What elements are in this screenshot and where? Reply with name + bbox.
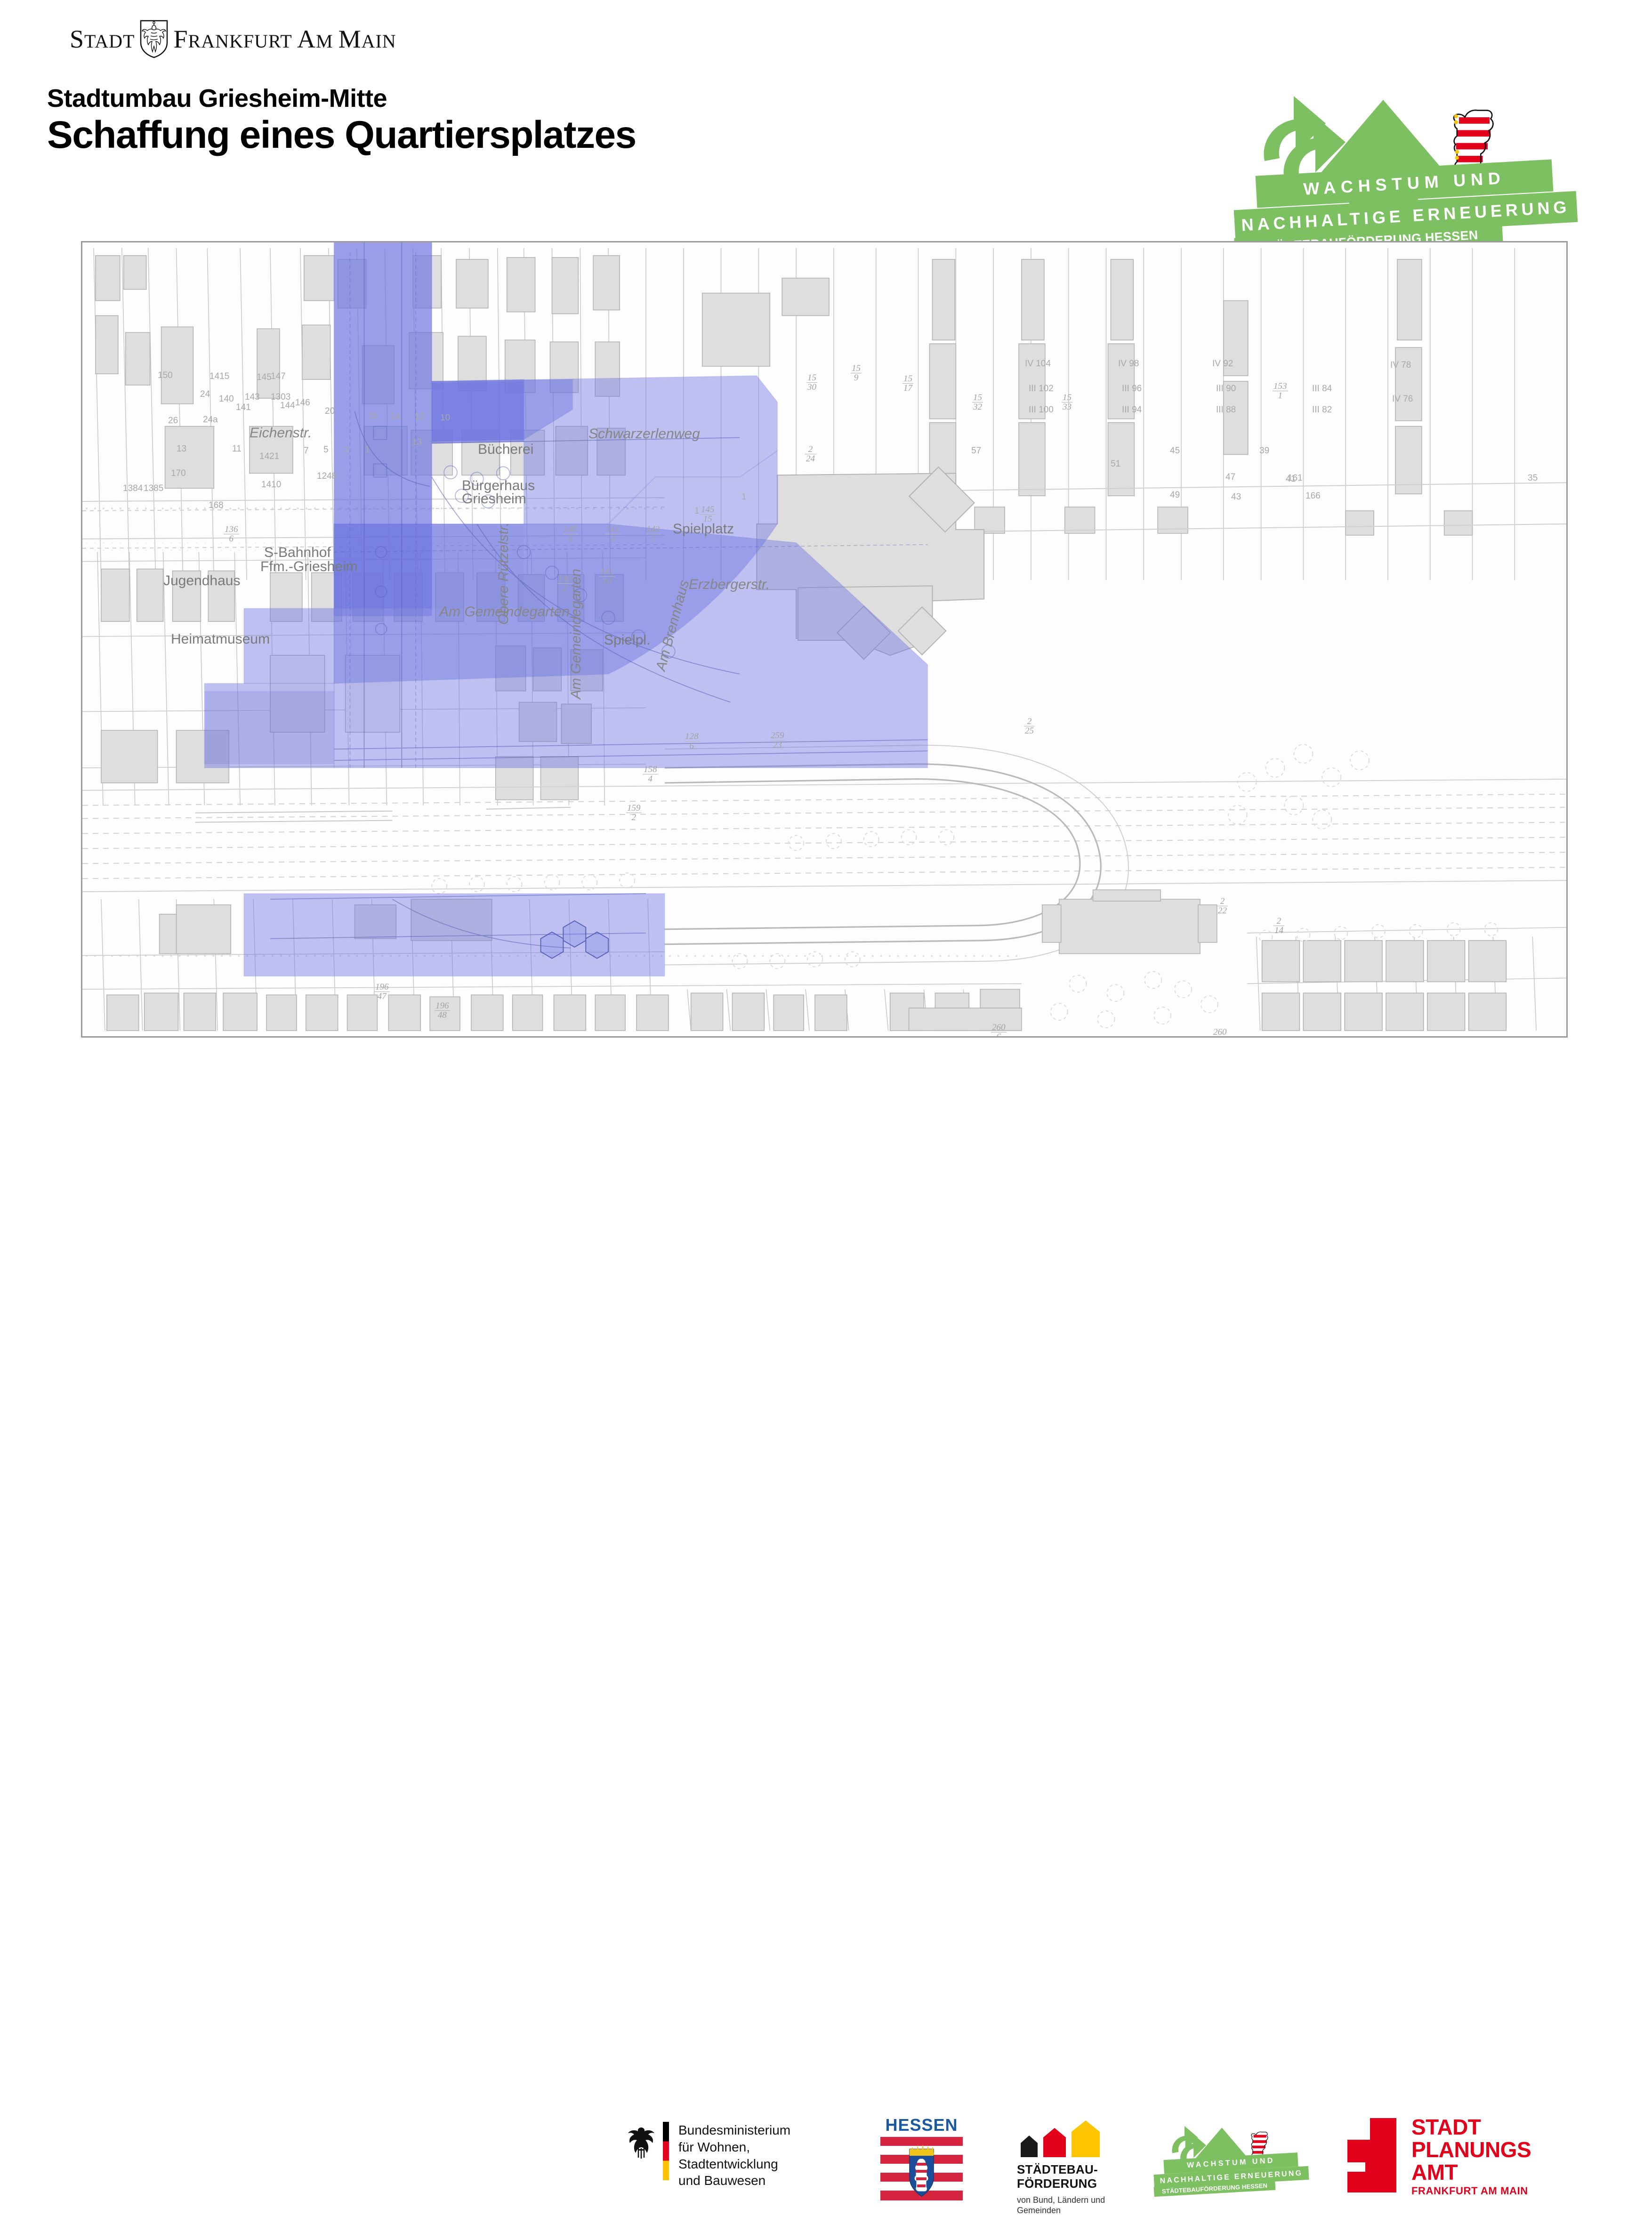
bmwsb-text: Bundesministerium für Wohnen, Stadtentwi… [678, 2122, 852, 2189]
parcel-fraction: 1366 [224, 525, 239, 543]
bmwsb-line2: für Wohnen, Stadtentwicklung [678, 2140, 778, 2171]
house-number: 12 [415, 412, 425, 422]
parcel-fraction: 225 [1024, 717, 1035, 735]
house-number: 146 [295, 398, 310, 408]
house-number: 47 [1225, 472, 1235, 483]
hessen-logo: HESSEN [880, 2115, 963, 2202]
house-number: 5 [323, 445, 329, 455]
house-number: 14 [391, 412, 401, 422]
staedtebau-sub2: Gemeinden [1017, 2206, 1061, 2215]
house-number: 39 [1259, 446, 1269, 456]
map-vector-layer [82, 242, 1566, 1036]
spa-line1: STADT [1411, 2115, 1481, 2139]
house-number: 144 [280, 401, 295, 411]
parcel-fraction: 1431 [645, 525, 661, 543]
map-poi-s-bahnhof: S-Bahnhof [264, 545, 331, 561]
house-number: III 94 [1122, 405, 1142, 415]
house-number: III 84 [1312, 384, 1332, 394]
map-street-schwarzerlenweg: Schwarzerlenweg [588, 426, 700, 442]
house-number: 170 [171, 468, 186, 479]
parcel-fraction: 2607 [1212, 1028, 1228, 1038]
house-number: IV 78 [1390, 360, 1411, 371]
house-number: 10 [440, 413, 450, 423]
hessen-flag-icon [880, 2137, 963, 2200]
page-title: Schaffung eines Quartiersplatzes [47, 113, 636, 157]
house-number: III 90 [1216, 384, 1236, 394]
house-number: IV 98 [1118, 359, 1139, 369]
house-number: 57 [971, 446, 981, 456]
house-number: III 96 [1122, 384, 1142, 394]
map-poi-jugendhaus: Jugendhaus [163, 573, 240, 589]
house-number: IV 104 [1025, 359, 1051, 369]
parcel-fraction: 1531 [1273, 382, 1288, 400]
city-logo-word-frankfurt-am-main: FRANKFURT AM MAIN [173, 24, 396, 54]
stadtplanungsamt-logo: STADT PLANUNGS AMT FRANKFURT AM MAIN [1336, 2116, 1562, 2201]
house-number: 20 [325, 406, 335, 417]
parcel-fraction: 25923 [770, 731, 785, 749]
staedtebau-line1: STÄDTEBAU- [1017, 2163, 1135, 2177]
parcel-fraction: 1533 [1062, 393, 1072, 411]
staedtebau-line2: FÖRDERUNG [1017, 2177, 1135, 2191]
house-number: 7 [304, 446, 309, 456]
spa-line2: PLANUNGS [1411, 2137, 1531, 2162]
house-number: III 100 [1029, 405, 1054, 415]
map-poi-spielpl: Spielpl. [604, 632, 650, 648]
house-number: 1410 [261, 480, 281, 490]
house-number: III 88 [1216, 405, 1236, 415]
spa-subline: FRANKFURT AM MAIN [1411, 2185, 1528, 2197]
house-number: 1 [741, 492, 747, 502]
parcel-fraction: 224 [805, 445, 816, 463]
house-number: 13 [177, 444, 186, 454]
house-number: IV 92 [1212, 359, 1233, 369]
map-poi-griesheim: Griesheim [462, 491, 526, 507]
house-number: 1 [694, 506, 700, 516]
city-logo-word-stadt: STADT [70, 24, 135, 54]
parcel-fraction: 222 [1217, 897, 1228, 915]
stadtplanungsamt-wordmark: STADT PLANUNGS AMT [1411, 2116, 1531, 2184]
house-number: 26 [168, 416, 178, 426]
page-header: STADT FRANKFURT AM MAIN Stadtumbau Gries… [0, 0, 1652, 235]
staedtebaufoerderung-logo: STÄDTEBAU- FÖRDERUNG von Bund, Ländern u… [1017, 2119, 1135, 2201]
map-street-eichenstr: Eichenstr. [250, 425, 312, 441]
parcel-fraction: 1592 [626, 804, 642, 822]
spa-line3: AMT [1411, 2160, 1458, 2184]
house-number: 168 [209, 500, 224, 511]
house-number: 11 [232, 444, 242, 454]
house-number: 16 [368, 411, 378, 421]
map-street-obere-ruetzelstr: Obere Rützelstr. [496, 523, 512, 625]
cadastral-map[interactable]: Eichenstr. Schwarzerlenweg Erzbergerstr.… [81, 241, 1568, 1038]
house-number: 1248 [317, 471, 337, 482]
wachstum-logo-footer: WACHSTUM UND NACHHALTIGE ERNEUERUNG STÄD… [1153, 2123, 1309, 2201]
page-footer: Bundesministerium für Wohnen, Stadtentwi… [0, 1048, 1652, 1168]
house-number: 13 [412, 437, 422, 448]
parcel-fraction: 1517 [903, 374, 913, 393]
parcel-fraction: 19647 [374, 983, 390, 1001]
parcel-fraction: 2974 [379, 1036, 395, 1038]
house-number: 3 [344, 445, 349, 455]
house-number: 150 [158, 371, 173, 381]
parcel-fraction: 1286 [684, 732, 700, 750]
house-number: III 82 [1312, 405, 1332, 415]
parcel-fraction: 14515 [700, 505, 716, 524]
house-number: 143 [245, 392, 260, 403]
house-number: 1385 [144, 483, 163, 494]
bmwsb-line1: Bundesministerium [678, 2123, 790, 2137]
parcel-fraction: 1402 [557, 574, 572, 593]
hessen-wordmark: HESSEN [880, 2115, 963, 2135]
stadtplanungsamt-mark-icon [1336, 2118, 1396, 2192]
bundesadler-icon [626, 2125, 656, 2160]
parcel-fraction: 1530 [806, 373, 817, 392]
house-number: 141 [236, 403, 251, 413]
house-number: 43 [1231, 492, 1241, 502]
parcel-fraction: 1532 [972, 393, 983, 411]
house-number: 166 [1305, 491, 1321, 501]
stadt-frankfurt-logo: STADT FRANKFURT AM MAIN [70, 23, 371, 56]
house-number: 1 [365, 445, 370, 455]
house-number: 147 [271, 371, 286, 382]
parcel-fraction: 14110 [599, 567, 615, 586]
house-number: 1421 [259, 451, 279, 462]
map-poi-buecherei: Bücherei [478, 442, 533, 458]
house-number: 49 [1170, 490, 1180, 500]
house-number: 145 [257, 372, 272, 383]
parcel-fraction: 1584 [643, 765, 658, 783]
project-subtitle: Stadtumbau Griesheim-Mitte [47, 84, 387, 113]
parcel-fraction: 19648 [435, 1001, 450, 1020]
house-number: 45 [1170, 446, 1180, 456]
house-number: IV 76 [1392, 394, 1413, 404]
house-number: 35 [1528, 473, 1538, 483]
parcel-fraction: 159 [851, 364, 862, 382]
house-number: III 102 [1029, 384, 1054, 394]
house-number: 1384 [123, 483, 143, 494]
house-number: 51 [1111, 459, 1120, 469]
bmwsb-logo: Bundesministerium für Wohnen, Stadtentwi… [626, 2122, 852, 2192]
house-number: 140 [219, 394, 234, 404]
staedtebau-sub1: von Bund, Ländern und [1017, 2195, 1105, 2205]
parcel-fraction: 214 [1273, 917, 1284, 935]
three-houses-icon [1017, 2119, 1111, 2157]
house-number: 161 [1288, 473, 1303, 483]
house-number: 1415 [210, 371, 229, 382]
map-street-erzbergerstr: Erzbergerstr. [689, 577, 770, 593]
bmwsb-line3: und Bauwesen [678, 2173, 766, 2188]
parcel-fraction: 1404 [563, 525, 578, 543]
map-poi-ffm-griesheim: Ffm.-Griesheim [260, 559, 358, 575]
parcel-fraction: 2606 [991, 1023, 1007, 1038]
house-number: 24 [200, 389, 210, 400]
german-flag-bar-icon [663, 2122, 669, 2180]
map-poi-heimatmuseum: Heimatmuseum [171, 631, 270, 647]
parcel-fraction: 1414 [605, 525, 621, 543]
frankfurt-eagle-shield-icon [139, 20, 169, 58]
house-number: 24a [203, 415, 218, 425]
